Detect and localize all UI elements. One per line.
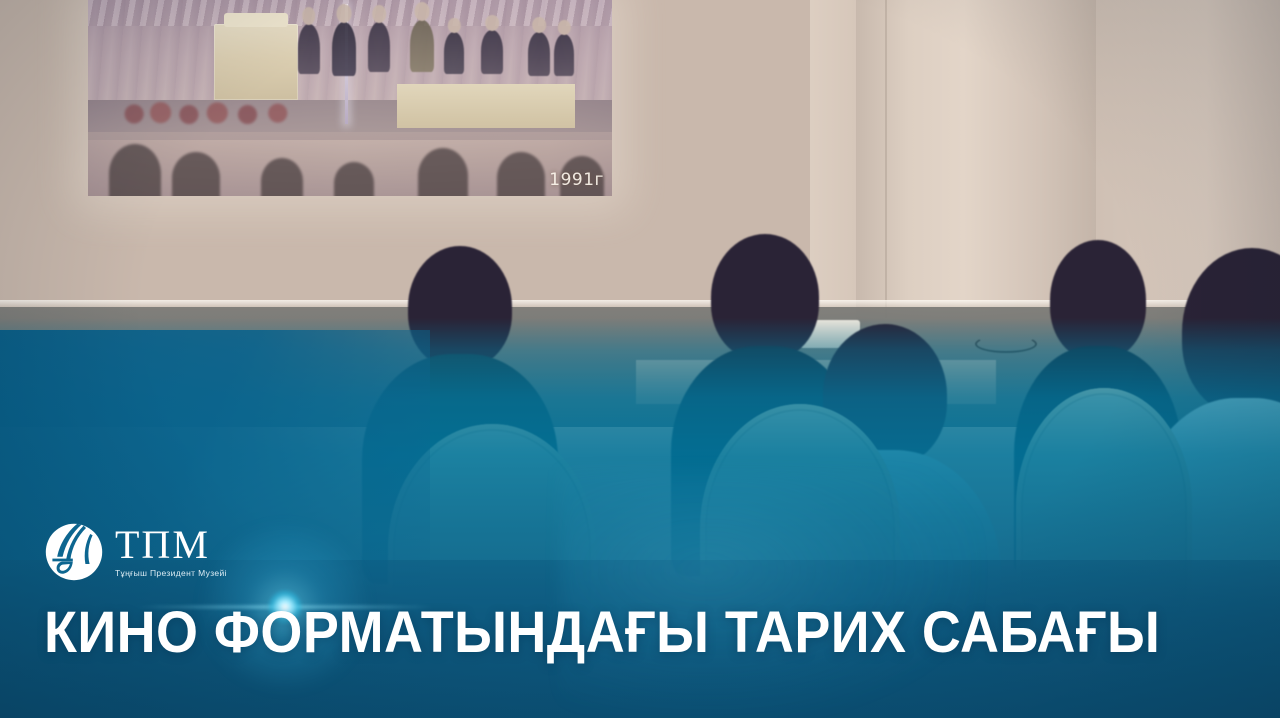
promo-image-canvas: 1991г [0, 0, 1280, 718]
projected-podium [214, 24, 298, 100]
wall-seam [885, 0, 887, 318]
logo-subtitle: Тұңғыш Президент Музейі [115, 568, 227, 578]
banquet-chair [1016, 388, 1192, 626]
projected-figure [368, 22, 390, 72]
projected-figure [481, 30, 503, 74]
projected-figure [410, 20, 434, 72]
projected-audience-silhouette [172, 152, 220, 196]
person-head [408, 246, 512, 368]
projected-table [397, 84, 575, 128]
projected-figure [332, 22, 356, 76]
logo-wordmark-group: ТПМ Тұңғыш Президент Музейі [115, 526, 227, 577]
logo-wordmark: ТПМ [115, 526, 227, 564]
projected-audience-silhouette [109, 144, 161, 196]
projected-audience-silhouette [418, 148, 468, 196]
projected-figure [528, 32, 550, 76]
projected-figure [444, 32, 464, 74]
headline-title: КИНО ФОРМАТЫНДАҒЫ ТАРИХ САБАҒЫ [44, 604, 1160, 662]
projected-figure [298, 24, 320, 74]
projected-figure [554, 34, 574, 76]
person-head [1050, 240, 1146, 360]
projected-audience-silhouette [261, 158, 303, 196]
projected-flower-arrangement [119, 100, 308, 128]
museum-logo[interactable]: ТПМ Тұңғыш Президент Музейі [44, 522, 227, 582]
projection-screen: 1991г [88, 0, 612, 196]
tpm-circle-emblem-icon [44, 522, 104, 582]
projected-audience-silhouette [497, 152, 545, 196]
person-head [1182, 248, 1280, 416]
projected-year-caption: 1991г [549, 170, 604, 190]
